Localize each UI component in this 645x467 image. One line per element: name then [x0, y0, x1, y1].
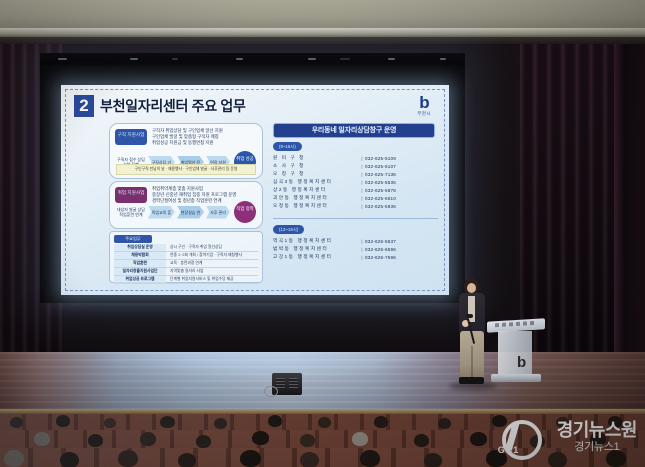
phone-number: 032-625-6107 — [365, 164, 396, 169]
table-row: 채용박람회 연중 1~2회 개최 / 참여기업 · 구직자 매칭행사 — [114, 252, 258, 260]
presenter-leg-split — [471, 346, 473, 378]
news-watermark: GN1 경기뉴스원 경기뉴스1 — [494, 419, 637, 455]
phone-row: 범박동 행정복지센터 | 032-625-6596 — [273, 245, 396, 253]
audience-head — [56, 415, 70, 427]
watermark-primary: 경기뉴스원 — [557, 421, 637, 439]
slide-card-main-business: 주요업무 취업상담실 운영 상시 구인 · 구직자 취업 알선상담 채용박람회 … — [109, 231, 263, 283]
panel-divider — [273, 218, 438, 219]
bucheon-logo-glyph: b — [411, 95, 437, 111]
screen-masking-bar — [40, 53, 465, 65]
audience-head — [268, 415, 282, 427]
table-row: 직업훈련 교육 · 훈련과정 연계 — [114, 260, 258, 268]
bucheon-city-logo: b 부천시 — [411, 95, 437, 117]
hours-badge-morning: (9~16시) — [273, 142, 302, 151]
gn1-logo-icon: GN1 — [494, 419, 552, 455]
phone-row: 역곡1동 행정복지센터 | 032-625-5537 — [273, 237, 396, 245]
audience-head — [360, 450, 380, 467]
audience-head — [34, 432, 50, 446]
presenter-shoes — [459, 377, 484, 384]
table-cell-key: 일자리창출지원사업단 — [114, 268, 166, 275]
slide-title: 부천일자리센터 주요 업무 — [100, 96, 246, 116]
office-name: 원 미 구 청 — [273, 155, 359, 161]
office-name: 괴안동 행정복지센터 — [273, 195, 359, 201]
card-tag-label: 취업 지원사업 — [115, 187, 147, 203]
audience-head — [438, 418, 451, 429]
phone-list-morning: 원 미 구 청 | 032-625-5109 소 사 구 청 | 032-625… — [273, 154, 396, 210]
flow-step: 직업교육 훈련 — [148, 206, 175, 219]
audience-head — [140, 432, 156, 446]
watermark-text: 경기뉴스원 경기뉴스1 — [557, 421, 637, 453]
slide-title-row: 2 부천일자리센터 주요 업무 — [74, 95, 246, 117]
table-cell-value: 상시 구인 · 구직자 취업 알선상담 — [166, 244, 222, 251]
flow-result: 직업 정착 — [234, 201, 256, 223]
slide-card-employment: 취업 지원사업 취업취약계층 맞춤 지원사업 중장년·신중년 재취업 집중 지원… — [109, 181, 263, 229]
audience-head — [104, 418, 116, 428]
lectern-body: b — [498, 331, 532, 374]
table-cell-value: 교육 · 훈련과정 연계 — [166, 260, 202, 267]
office-name: 오 정 구 청 — [273, 171, 359, 177]
slide-number: 2 — [74, 95, 94, 117]
main-business-table: 취업상담실 운영 상시 구인 · 구직자 취업 알선상담 채용박람회 연중 1~… — [114, 244, 258, 284]
phone-row: 심곡3동 행정복지센터 | 032-625-5536 — [273, 178, 396, 186]
bullet-item: 취업성공 지원금 및 동행면접 지원 — [152, 140, 257, 146]
hours-badge-afternoon: (13~18시) — [273, 225, 304, 234]
flow-step: 사후 관리 — [206, 206, 230, 219]
audience-head — [160, 416, 175, 428]
table-row: 일자리창출지원사업단 지역맞춤 일자리 사업 — [114, 268, 258, 276]
presenter-face — [467, 283, 476, 293]
flow-start-label: 대상자 발굴 상담 직업훈련 연계 — [116, 207, 146, 217]
audience-head — [470, 432, 487, 446]
table-cell-key: 취업성공 프로그램 — [114, 276, 166, 283]
audience-head — [374, 416, 388, 428]
card-process-flow: 대상자 발굴 상담 직업훈련 연계 직업교육 훈련 현장실습 연계 사후 관리 … — [116, 202, 256, 222]
office-name: 소 사 구 청 — [273, 163, 359, 169]
phone-row: 소 사 구 청 | 032-625-6107 — [273, 162, 396, 170]
phone-number: 032-625-7596 — [365, 255, 396, 260]
table-cell-value: 지역맞춤 일자리 사업 — [166, 268, 204, 275]
audience-head — [10, 417, 23, 428]
phone-row: 오정동 행정복지센터 | 032-625-5936 — [273, 202, 396, 210]
lectern: b — [487, 320, 545, 386]
card-tag-label: 구직 지원사업 — [115, 129, 147, 145]
card-bullets: 구직자 취업상담 및 구인업체 알선 지원 구인업체 발굴 및 맞춤형 구직자 … — [152, 128, 257, 147]
phone-row: 고강1동 행정복지센터 | 032-625-7596 — [273, 253, 396, 261]
phone-number: 032-625-5109 — [365, 156, 396, 161]
phone-number: 032-625-7136 — [365, 172, 396, 177]
bucheon-logo-caption: 부천시 — [411, 111, 437, 117]
flow-step: 현장실습 연계 — [177, 206, 204, 219]
phone-number: 032-625-5536 — [365, 180, 396, 185]
table-row: 취업상담실 운영 상시 구인 · 구직자 취업 알선상담 — [114, 244, 258, 252]
ceiling-band — [0, 0, 645, 30]
phone-number: 032-625-5878 — [365, 188, 396, 193]
main-business-header: 주요업무 — [114, 235, 152, 243]
phone-row: 괴안동 행정복지센터 | 032-625-6610 — [273, 194, 396, 202]
gn1-wordmark: GN1 — [498, 445, 520, 455]
audience-head — [252, 431, 269, 445]
audience-head — [240, 450, 261, 467]
phone-number: 032-625-6596 — [365, 247, 396, 252]
speaker-cable — [264, 386, 278, 397]
phone-number: 032-625-5537 — [365, 239, 396, 244]
audience-head — [4, 450, 24, 467]
office-name: 상2동 행정복지센터 — [273, 187, 359, 193]
slide-card-jobseeker: 구직 지원사업 구직자 취업상담 및 구인업체 알선 지원 구인업체 발굴 및 … — [109, 123, 263, 179]
office-name: 역곡1동 행정복지센터 — [273, 238, 359, 244]
audience-head — [118, 450, 138, 467]
audience-head — [424, 453, 442, 467]
office-name: 오정동 행정복지센터 — [273, 203, 359, 209]
phone-row: 원 미 구 청 | 032-625-5109 — [273, 154, 396, 162]
table-row: 취업성공 프로그램 단계별 취업지원서비스 및 취업수당 제공 — [114, 276, 258, 284]
lectern-base — [491, 374, 541, 382]
phone-list-afternoon: 역곡1동 행정복지센터 | 032-625-5537 범박동 행정복지센터 | … — [273, 237, 396, 261]
table-cell-value: 연중 1~2회 개최 / 참여기업 · 구직자 매칭행사 — [166, 252, 242, 259]
table-cell-value: 단계별 취업지원서비스 및 취업수당 제공 — [166, 276, 234, 283]
screen-light-spill — [90, 352, 440, 382]
photo-scene: 2 부천일자리센터 주요 업무 b 부천시 구직 지원사업 구직자 취업상담 및… — [0, 0, 645, 467]
speaker-grille — [289, 378, 298, 390]
curtain-edge — [614, 44, 624, 354]
audience-head — [300, 434, 315, 447]
table-cell-key: 채용박람회 — [114, 252, 166, 259]
audience-head — [414, 434, 429, 447]
table-cell-key: 취업상담실 운영 — [114, 244, 166, 251]
office-name: 심곡3동 행정복지센터 — [273, 179, 359, 185]
audience-head — [178, 453, 196, 467]
presentation-slide: 2 부천일자리센터 주요 업무 b 부천시 구직 지원사업 구직자 취업상담 및… — [61, 85, 449, 295]
audience-head — [318, 417, 331, 428]
phone-row: 상2동 행정복지센터 | 032-625-5878 — [273, 186, 396, 194]
phone-row: 오 정 구 청 | 032-625-7136 — [273, 170, 396, 178]
side-wall — [624, 44, 645, 354]
card-note: 구인구직 만남의 날 · 채용행사 · 구인업체 발굴 · 사후관리 등 운영 — [116, 164, 256, 175]
counseling-panel-title: 우리동네 일자리상담창구 운영 — [273, 123, 435, 138]
table-cell-key: 직업훈련 — [114, 260, 166, 267]
audience-head — [214, 418, 227, 429]
office-name: 고강1동 행정복지센터 — [273, 254, 359, 260]
phone-number: 032-625-5936 — [365, 204, 396, 209]
watermark-secondary: 경기뉴스1 — [557, 442, 637, 453]
phone-number: 032-625-6610 — [365, 196, 396, 201]
audience-head — [88, 434, 103, 447]
lectern-bucheon-logo: b — [517, 355, 525, 370]
audience-head — [300, 452, 319, 467]
audience-head — [196, 435, 211, 448]
office-name: 범박동 행정복지센터 — [273, 246, 359, 252]
audience-head — [60, 452, 79, 467]
audience-head — [352, 432, 368, 446]
